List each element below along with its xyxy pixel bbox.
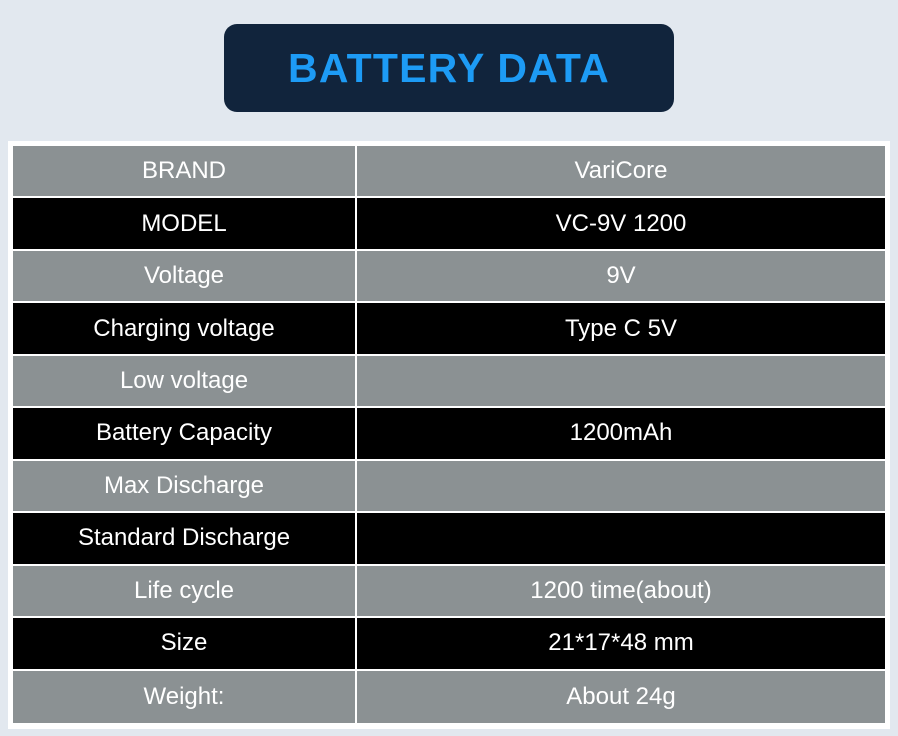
table-row: Max Discharge <box>13 461 885 513</box>
title-banner: BATTERY DATA <box>224 24 674 112</box>
table-row: Weight:About 24g <box>13 671 885 723</box>
spec-value: 21*17*48 mm <box>357 618 885 670</box>
spec-value <box>357 356 885 408</box>
battery-data-page: BATTERY DATA BRANDVariCoreMODELVC-9V 120… <box>0 0 898 736</box>
table-row: MODELVC-9V 1200 <box>13 198 885 250</box>
spec-value: VariCore <box>357 146 885 198</box>
spec-value: Type C 5V <box>357 303 885 355</box>
page-title: BATTERY DATA <box>288 48 610 89</box>
table-row: Charging voltageType C 5V <box>13 303 885 355</box>
table-row: Low voltage <box>13 356 885 408</box>
spec-label: Charging voltage <box>13 303 357 355</box>
table-row: Life cycle1200 time(about) <box>13 566 885 618</box>
spec-label: Size <box>13 618 357 670</box>
spec-label: Standard Discharge <box>13 513 357 565</box>
spec-value: 1200mAh <box>357 408 885 460</box>
spec-value: VC-9V 1200 <box>357 198 885 250</box>
table-row: Size21*17*48 mm <box>13 618 885 670</box>
spec-label: Life cycle <box>13 566 357 618</box>
spec-label: Low voltage <box>13 356 357 408</box>
spec-label: MODEL <box>13 198 357 250</box>
spec-label: Voltage <box>13 251 357 303</box>
spec-value: About 24g <box>357 671 885 723</box>
table-row: Standard Discharge <box>13 513 885 565</box>
page-header: BATTERY DATA <box>0 0 898 136</box>
spec-value: 9V <box>357 251 885 303</box>
spec-value <box>357 513 885 565</box>
spec-table-frame: BRANDVariCoreMODELVC-9V 1200Voltage9VCha… <box>8 141 890 729</box>
table-row: BRANDVariCore <box>13 146 885 198</box>
spec-label: Max Discharge <box>13 461 357 513</box>
spec-value: 1200 time(about) <box>357 566 885 618</box>
table-row: Battery Capacity1200mAh <box>13 408 885 460</box>
spec-label: Weight: <box>13 671 357 723</box>
table-row: Voltage9V <box>13 251 885 303</box>
battery-spec-table: BRANDVariCoreMODELVC-9V 1200Voltage9VCha… <box>13 146 885 723</box>
spec-label: Battery Capacity <box>13 408 357 460</box>
spec-table-body: BRANDVariCoreMODELVC-9V 1200Voltage9VCha… <box>13 146 885 723</box>
spec-value <box>357 461 885 513</box>
spec-label: BRAND <box>13 146 357 198</box>
